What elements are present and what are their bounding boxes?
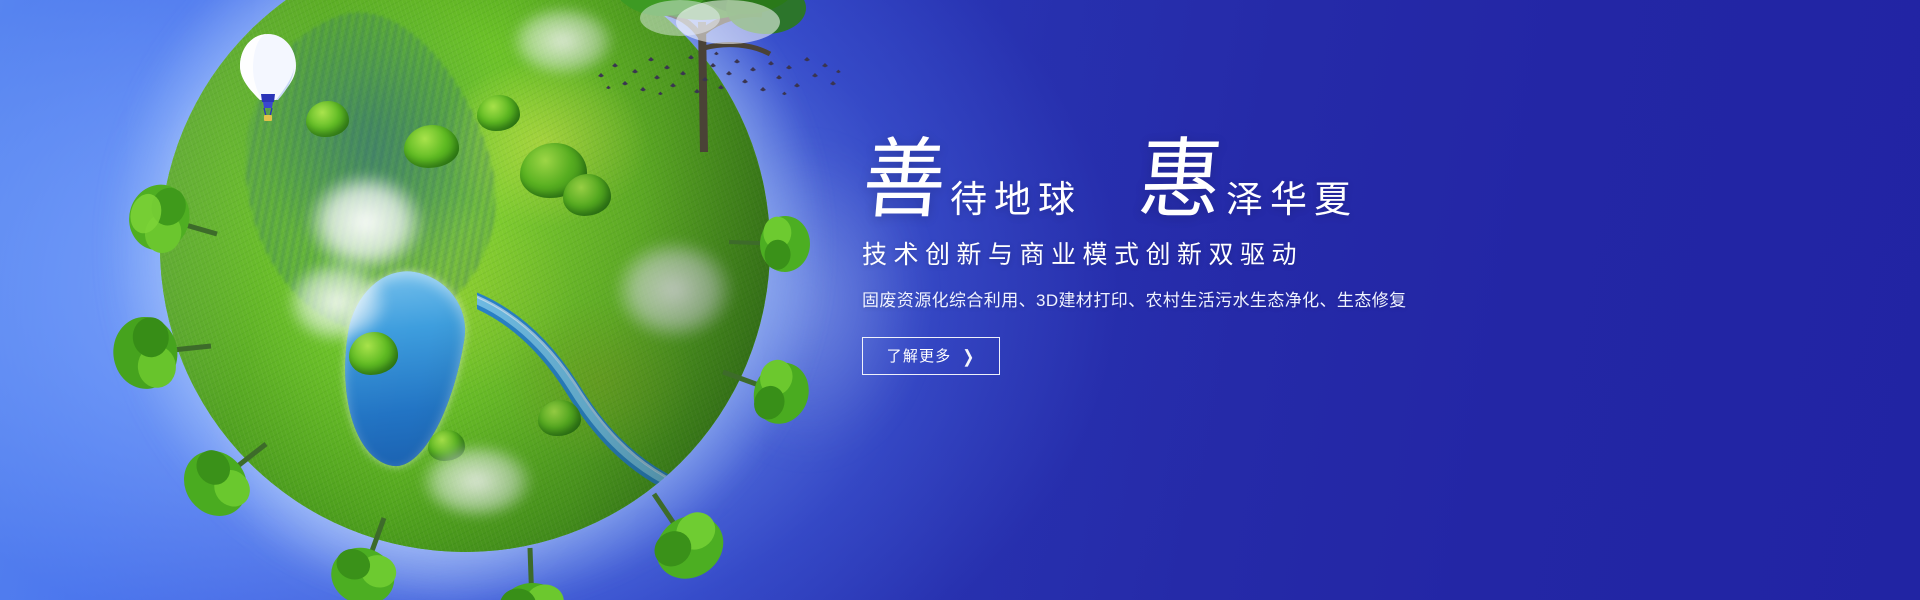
- banner-description: 固废资源化综合利用、3D建材打印、农村生活污水生态净化、生态修复: [862, 289, 1562, 313]
- hot-air-balloon-icon: [236, 30, 300, 126]
- chevron-right-icon: ❯: [962, 347, 975, 365]
- banner-subtitle: 技术创新与商业模式创新双驱动: [862, 240, 1562, 271]
- hero-banner: 善 待地球 惠 泽华夏 技术创新与商业模式创新双驱动 固废资源化综合利用、3D建…: [0, 0, 1920, 600]
- headline-char-hui: 惠: [1135, 137, 1236, 224]
- rim-tree-icon: [490, 547, 573, 600]
- headline-daidiqiu: 待地球: [950, 181, 1082, 224]
- headline-zehuaxia: 泽华夏: [1226, 181, 1358, 224]
- rim-tree-icon: [728, 207, 816, 280]
- headline-char-shan: 善: [859, 137, 960, 224]
- page-title: 善 待地球 惠 泽华夏: [862, 128, 1562, 224]
- learn-more-button[interactable]: 了解更多 ❯: [862, 337, 1000, 375]
- bird-flock-icon: [592, 46, 842, 102]
- rim-tree-icon: [103, 303, 215, 399]
- learn-more-label: 了解更多: [887, 349, 952, 364]
- banner-copy: 善 待地球 惠 泽华夏 技术创新与商业模式创新双驱动 固废资源化综合利用、3D建…: [862, 128, 1562, 375]
